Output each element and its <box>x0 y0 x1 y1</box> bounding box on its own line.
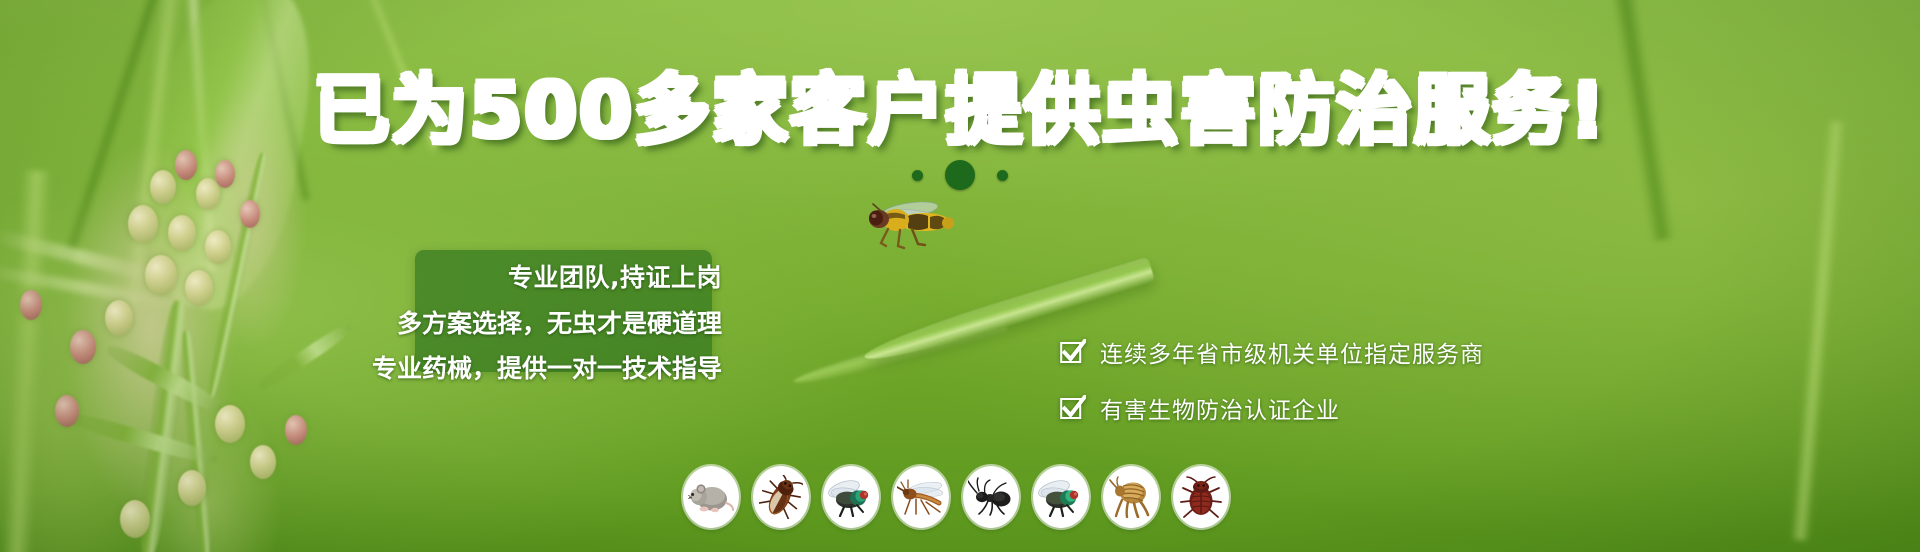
slogan-line-1: 专业团队,持证上岗 <box>332 252 722 290</box>
credential-item: 连续多年省市级机关单位指定服务商 <box>1060 335 1540 369</box>
large-dot-icon <box>945 160 975 190</box>
pest-icon-row <box>683 466 1229 528</box>
bedbug-icon[interactable] <box>1173 466 1229 528</box>
fly-icon[interactable] <box>823 466 879 528</box>
mouse-icon[interactable] <box>683 466 739 528</box>
pest-control-banner: 已为500多家客户提供虫害防治服务! 专业团队,持证上岗 多方案选择，无虫才是硬… <box>0 0 1920 552</box>
slogan-list: 专业团队,持证上岗 多方案选择，无虫才是硬道理 专业药械，提供一对一技术指导 <box>332 252 722 381</box>
banner-headline-text: 已为500多家客户提供虫害防治服务! <box>313 65 1606 154</box>
credential-text: 有害生物防治认证企业 <box>1100 391 1340 425</box>
decor-dots <box>0 160 1920 190</box>
cockroach-icon[interactable] <box>753 466 809 528</box>
small-dot-icon <box>997 170 1008 181</box>
credential-text: 连续多年省市级机关单位指定服务商 <box>1100 335 1484 369</box>
credential-item: 有害生物防治认证企业 <box>1060 391 1540 425</box>
blowfly-icon[interactable] <box>1033 466 1089 528</box>
slogan-line-2: 多方案选择，无虫才是硬道理 <box>332 290 722 336</box>
checkbox-checked-icon <box>1060 395 1086 421</box>
slogan-line-3: 专业药械，提供一对一技术指导 <box>332 336 722 381</box>
banner-headline: 已为500多家客户提供虫害防治服务! <box>0 72 1920 148</box>
small-dot-icon <box>912 170 923 181</box>
credential-list: 连续多年省市级机关单位指定服务商 有害生物防治认证企业 <box>1060 335 1540 447</box>
mosquito-icon[interactable] <box>893 466 949 528</box>
flea-icon[interactable] <box>1103 466 1159 528</box>
checkbox-checked-icon <box>1060 339 1086 365</box>
ant-icon[interactable] <box>963 466 1019 528</box>
